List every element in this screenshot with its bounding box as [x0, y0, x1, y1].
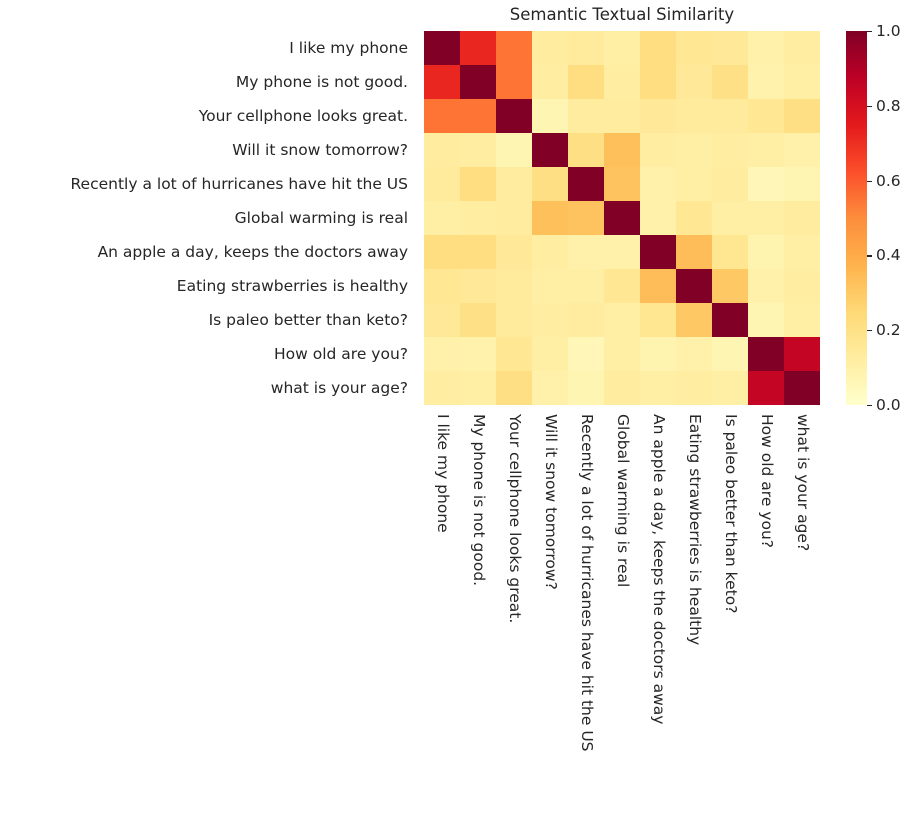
heatmap-cell [496, 235, 532, 269]
heatmap-cell [604, 235, 640, 269]
x-axis-tick-slot: Is paleo better than keto? [712, 405, 748, 825]
heatmap-cell [712, 31, 748, 65]
heatmap-cell [568, 269, 604, 303]
heatmap-cell [424, 269, 460, 303]
x-axis-tick-slot: Your cellphone looks great. [496, 405, 532, 825]
x-axis-tick-slot: I like my phone [424, 405, 460, 825]
y-axis-tick-label: Recently a lot of hurricanes have hit th… [0, 167, 416, 201]
y-axis-tick-label: An apple a day, keeps the doctors away [0, 235, 416, 269]
heatmap-cell [676, 99, 712, 133]
heatmap-cell [568, 371, 604, 405]
heatmap-cell [568, 201, 604, 235]
heatmap-cell [460, 201, 496, 235]
heatmap-cell [748, 65, 784, 99]
x-axis-tick-label: Eating strawberries is healthy [686, 414, 702, 645]
y-axis-tick-labels: I like my phoneMy phone is not good.Your… [0, 31, 416, 405]
heatmap-cell [784, 31, 820, 65]
heatmap-cell [460, 235, 496, 269]
heatmap-cell [676, 65, 712, 99]
heatmap-cell [424, 99, 460, 133]
x-axis-tick-label: Recently a lot of hurricanes have hit th… [578, 414, 594, 752]
heatmap-cell [640, 167, 676, 201]
x-axis-tick-slot: An apple a day, keeps the doctors away [640, 405, 676, 825]
x-axis-tick-slot: Recently a lot of hurricanes have hit th… [568, 405, 604, 825]
heatmap-cell [496, 65, 532, 99]
x-axis-tick-label: My phone is not good. [470, 414, 486, 586]
x-axis-tick-slot: Will it snow tomorrow? [532, 405, 568, 825]
heatmap-cell [712, 303, 748, 337]
heatmap-cell [640, 337, 676, 371]
heatmap-cell [676, 337, 712, 371]
heatmap-cell [712, 371, 748, 405]
heatmap-cell [460, 31, 496, 65]
heatmap-cell [424, 371, 460, 405]
heatmap-cell [460, 65, 496, 99]
y-axis-tick-label: what is your age? [0, 371, 416, 405]
x-axis-tick-labels: I like my phoneMy phone is not good.Your… [424, 405, 820, 825]
heatmap-cell [640, 31, 676, 65]
colorbar-tick [867, 330, 872, 331]
heatmap-cell [604, 337, 640, 371]
y-axis-tick-label: My phone is not good. [0, 65, 416, 99]
heatmap-cell [604, 99, 640, 133]
heatmap-cell [424, 167, 460, 201]
heatmap-cell [748, 133, 784, 167]
heatmap-cell [532, 303, 568, 337]
heatmap-cell [568, 303, 604, 337]
heatmap-cell [424, 303, 460, 337]
heatmap-cell [676, 31, 712, 65]
heatmap-cell [496, 269, 532, 303]
x-axis-tick-label: Your cellphone looks great. [506, 414, 522, 623]
heatmap-cell [676, 201, 712, 235]
colorbar-tick [867, 405, 872, 406]
y-axis-tick-label: Is paleo better than keto? [0, 303, 416, 337]
x-axis-tick-slot: How old are you? [748, 405, 784, 825]
colorbar-gradient [846, 31, 867, 405]
heatmap-cell [604, 269, 640, 303]
heatmap-cell [532, 65, 568, 99]
heatmap-cell [532, 99, 568, 133]
y-axis-tick-label: Will it snow tomorrow? [0, 133, 416, 167]
heatmap-cell [568, 337, 604, 371]
x-axis-tick-slot: Global warming is real [604, 405, 640, 825]
heatmap-cell [424, 31, 460, 65]
heatmap-cell [748, 31, 784, 65]
x-axis-tick-label: Is paleo better than keto? [722, 414, 738, 613]
heatmap-cell [784, 167, 820, 201]
heatmap-cell [532, 235, 568, 269]
heatmap-cell [496, 337, 532, 371]
heatmap-cell [640, 371, 676, 405]
heatmap-cell [784, 133, 820, 167]
heatmap-cell [640, 99, 676, 133]
colorbar-tick [867, 106, 872, 107]
colorbar-tick-label: 0.2 [876, 321, 901, 339]
x-axis-tick-label: I like my phone [434, 414, 450, 533]
heatmap-cell [676, 303, 712, 337]
y-axis-tick-label: I like my phone [0, 31, 416, 65]
heatmap-cell [784, 269, 820, 303]
heatmap-cell [748, 201, 784, 235]
heatmap-cell [604, 303, 640, 337]
heatmap-cell [496, 371, 532, 405]
heatmap-cell [712, 65, 748, 99]
heatmap-cell [460, 167, 496, 201]
heatmap-cell [640, 303, 676, 337]
heatmap-cell [748, 269, 784, 303]
heatmap-cell [784, 303, 820, 337]
y-axis-tick-label: Eating strawberries is healthy [0, 269, 416, 303]
heatmap-cell [676, 167, 712, 201]
colorbar-tick-label: 0.4 [876, 246, 901, 264]
heatmap-cell [640, 269, 676, 303]
colorbar-tick-label: 0.8 [876, 97, 901, 115]
colorbar-tick [867, 255, 872, 256]
heatmap-cell [532, 269, 568, 303]
page-title: Semantic Textual Similarity [424, 5, 820, 24]
x-axis-tick-label: An apple a day, keeps the doctors away [650, 414, 666, 724]
heatmap-cell [496, 31, 532, 65]
heatmap-cell [676, 269, 712, 303]
heatmap-cell [424, 235, 460, 269]
heatmap-cell [784, 371, 820, 405]
heatmap-cell [604, 371, 640, 405]
heatmap-cell [604, 167, 640, 201]
y-axis-tick-label: Global warming is real [0, 201, 416, 235]
heatmap-cell [604, 31, 640, 65]
x-axis-tick-label: How old are you? [758, 414, 774, 548]
heatmap-cell [460, 133, 496, 167]
heatmap-cell [496, 133, 532, 167]
heatmap-cell [712, 269, 748, 303]
heatmap-cell [748, 303, 784, 337]
colorbar-tick-label: 0.6 [876, 172, 901, 190]
heatmap-cell [532, 337, 568, 371]
heatmap-cell [568, 235, 604, 269]
heatmap-cell [712, 133, 748, 167]
heatmap-cell [712, 337, 748, 371]
heatmap-cell [496, 201, 532, 235]
x-axis-tick-slot: Eating strawberries is healthy [676, 405, 712, 825]
heatmap-cell [604, 201, 640, 235]
y-axis-tick-label: How old are you? [0, 337, 416, 371]
heatmap-cell [532, 371, 568, 405]
heatmap-cell [676, 133, 712, 167]
heatmap-cell [460, 303, 496, 337]
heatmap-cell [568, 133, 604, 167]
heatmap-cell [532, 31, 568, 65]
heatmap-cell [604, 133, 640, 167]
heatmap-cell [676, 371, 712, 405]
heatmap-cell [568, 65, 604, 99]
heatmap-cell [640, 235, 676, 269]
heatmap-cell [496, 167, 532, 201]
heatmap-cell [424, 133, 460, 167]
colorbar-tick-label: 1.0 [876, 22, 901, 40]
colorbar: 1.00.80.60.40.20.0 [846, 31, 915, 405]
heatmap-cell [784, 99, 820, 133]
heatmap-cell [532, 201, 568, 235]
heatmap-cell [748, 167, 784, 201]
y-axis-tick-label: Your cellphone looks great. [0, 99, 416, 133]
heatmap-cell [784, 65, 820, 99]
x-axis-tick-slot: what is your age? [784, 405, 820, 825]
colorbar-tick [867, 31, 872, 32]
heatmap-cell [784, 235, 820, 269]
heatmap-cell [748, 235, 784, 269]
heatmap-cell [532, 167, 568, 201]
heatmap-cell [712, 167, 748, 201]
heatmap-cell [424, 65, 460, 99]
heatmap-cell [532, 133, 568, 167]
heatmap-cell [640, 201, 676, 235]
heatmap-cell [712, 99, 748, 133]
heatmap-cell [568, 31, 604, 65]
heatmap-cell [784, 201, 820, 235]
heatmap-cell [640, 65, 676, 99]
heatmap-cell [460, 99, 496, 133]
heatmap-cell [748, 371, 784, 405]
heatmap-cell [496, 99, 532, 133]
heatmap-cell [460, 337, 496, 371]
heatmap-cell [568, 167, 604, 201]
heatmap-grid [424, 31, 820, 405]
heatmap-cell [460, 269, 496, 303]
x-axis-tick-slot: My phone is not good. [460, 405, 496, 825]
heatmap-cell [424, 337, 460, 371]
colorbar-tick-label: 0.0 [876, 396, 901, 414]
x-axis-tick-label: what is your age? [794, 414, 810, 551]
heatmap-cell [712, 201, 748, 235]
heatmap-cell [424, 201, 460, 235]
heatmap-cell [460, 371, 496, 405]
heatmap-cell [640, 133, 676, 167]
heatmap-cell [604, 65, 640, 99]
heatmap-cell [568, 99, 604, 133]
heatmap-figure: Semantic Textual Similarity I like my ph… [0, 0, 915, 826]
heatmap-cell [748, 337, 784, 371]
x-axis-tick-label: Global warming is real [614, 414, 630, 587]
heatmap-cell [496, 303, 532, 337]
heatmap-cell [784, 337, 820, 371]
x-axis-tick-label: Will it snow tomorrow? [542, 414, 558, 590]
heatmap-cell [712, 235, 748, 269]
heatmap-cell [748, 99, 784, 133]
heatmap-cell [676, 235, 712, 269]
colorbar-tick [867, 181, 872, 182]
